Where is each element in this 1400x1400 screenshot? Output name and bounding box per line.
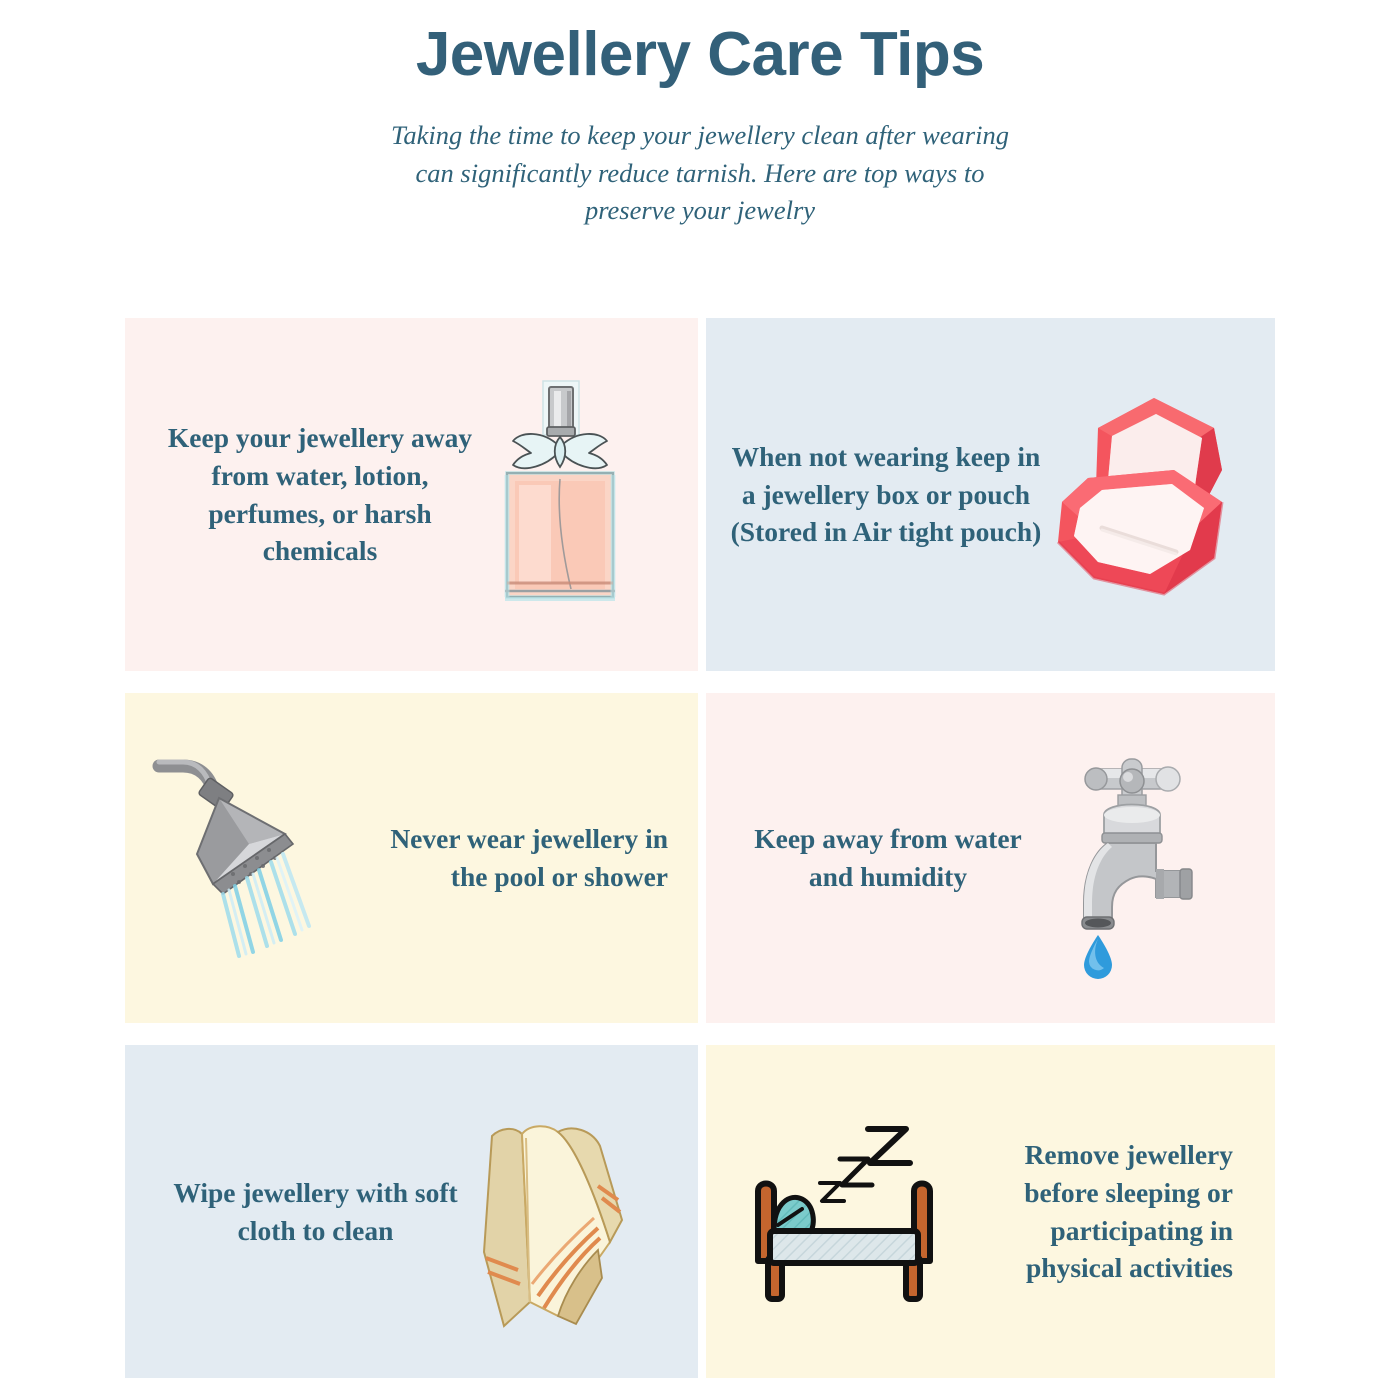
cloth-illustration bbox=[470, 1102, 640, 1332]
tip-card-avoid-chemicals: Keep your jewellery away from water, lot… bbox=[125, 318, 698, 671]
tip-card-avoid-water-humidity: Keep away from water and humidity bbox=[706, 693, 1275, 1023]
perfume-bottle-icon bbox=[485, 375, 635, 615]
tip-card-wipe-with-cloth: Wipe jewellery with soft cloth to clean bbox=[125, 1045, 698, 1378]
tip-text: Never wear jewellery in the pool or show… bbox=[368, 820, 668, 896]
header: Jewellery Care Tips Taking the time to k… bbox=[0, 0, 1400, 230]
faucet-illustration bbox=[1038, 751, 1213, 966]
cloth-icon bbox=[470, 1102, 640, 1332]
tip-text: Keep your jewellery away from water, lot… bbox=[145, 419, 485, 571]
tip-card-store-in-box: When not wearing keep in a jewellery box… bbox=[706, 318, 1275, 671]
tip-card-no-pool-or-shower: Never wear jewellery in the pool or show… bbox=[125, 693, 698, 1023]
tips-grid: Keep your jewellery away from water, lot… bbox=[125, 318, 1275, 1378]
tip-text: Wipe jewellery with soft cloth to clean bbox=[161, 1174, 470, 1250]
tip-card-remove-before-sleep: Remove jewellery before sleeping or part… bbox=[706, 1045, 1275, 1378]
ring-box-illustration bbox=[1046, 382, 1246, 607]
faucet-icon bbox=[1038, 751, 1213, 966]
shower-head-icon bbox=[153, 748, 328, 958]
shower-head-illustration bbox=[153, 748, 328, 958]
page-title: Jewellery Care Tips bbox=[0, 22, 1400, 87]
tip-text: Remove jewellery before sleeping or part… bbox=[974, 1136, 1233, 1288]
bed-sleep-icon bbox=[744, 1119, 944, 1304]
ring-box-icon bbox=[1046, 382, 1246, 607]
tip-text: Keep away from water and humidity bbox=[738, 820, 1038, 896]
infographic-page: Jewellery Care Tips Taking the time to k… bbox=[0, 0, 1400, 1400]
page-subtitle: Taking the time to keep your jewellery c… bbox=[380, 117, 1020, 230]
bed-illustration bbox=[744, 1119, 944, 1304]
tip-text: When not wearing keep in a jewellery box… bbox=[726, 438, 1046, 552]
perfume-bottle-illustration bbox=[485, 375, 635, 615]
